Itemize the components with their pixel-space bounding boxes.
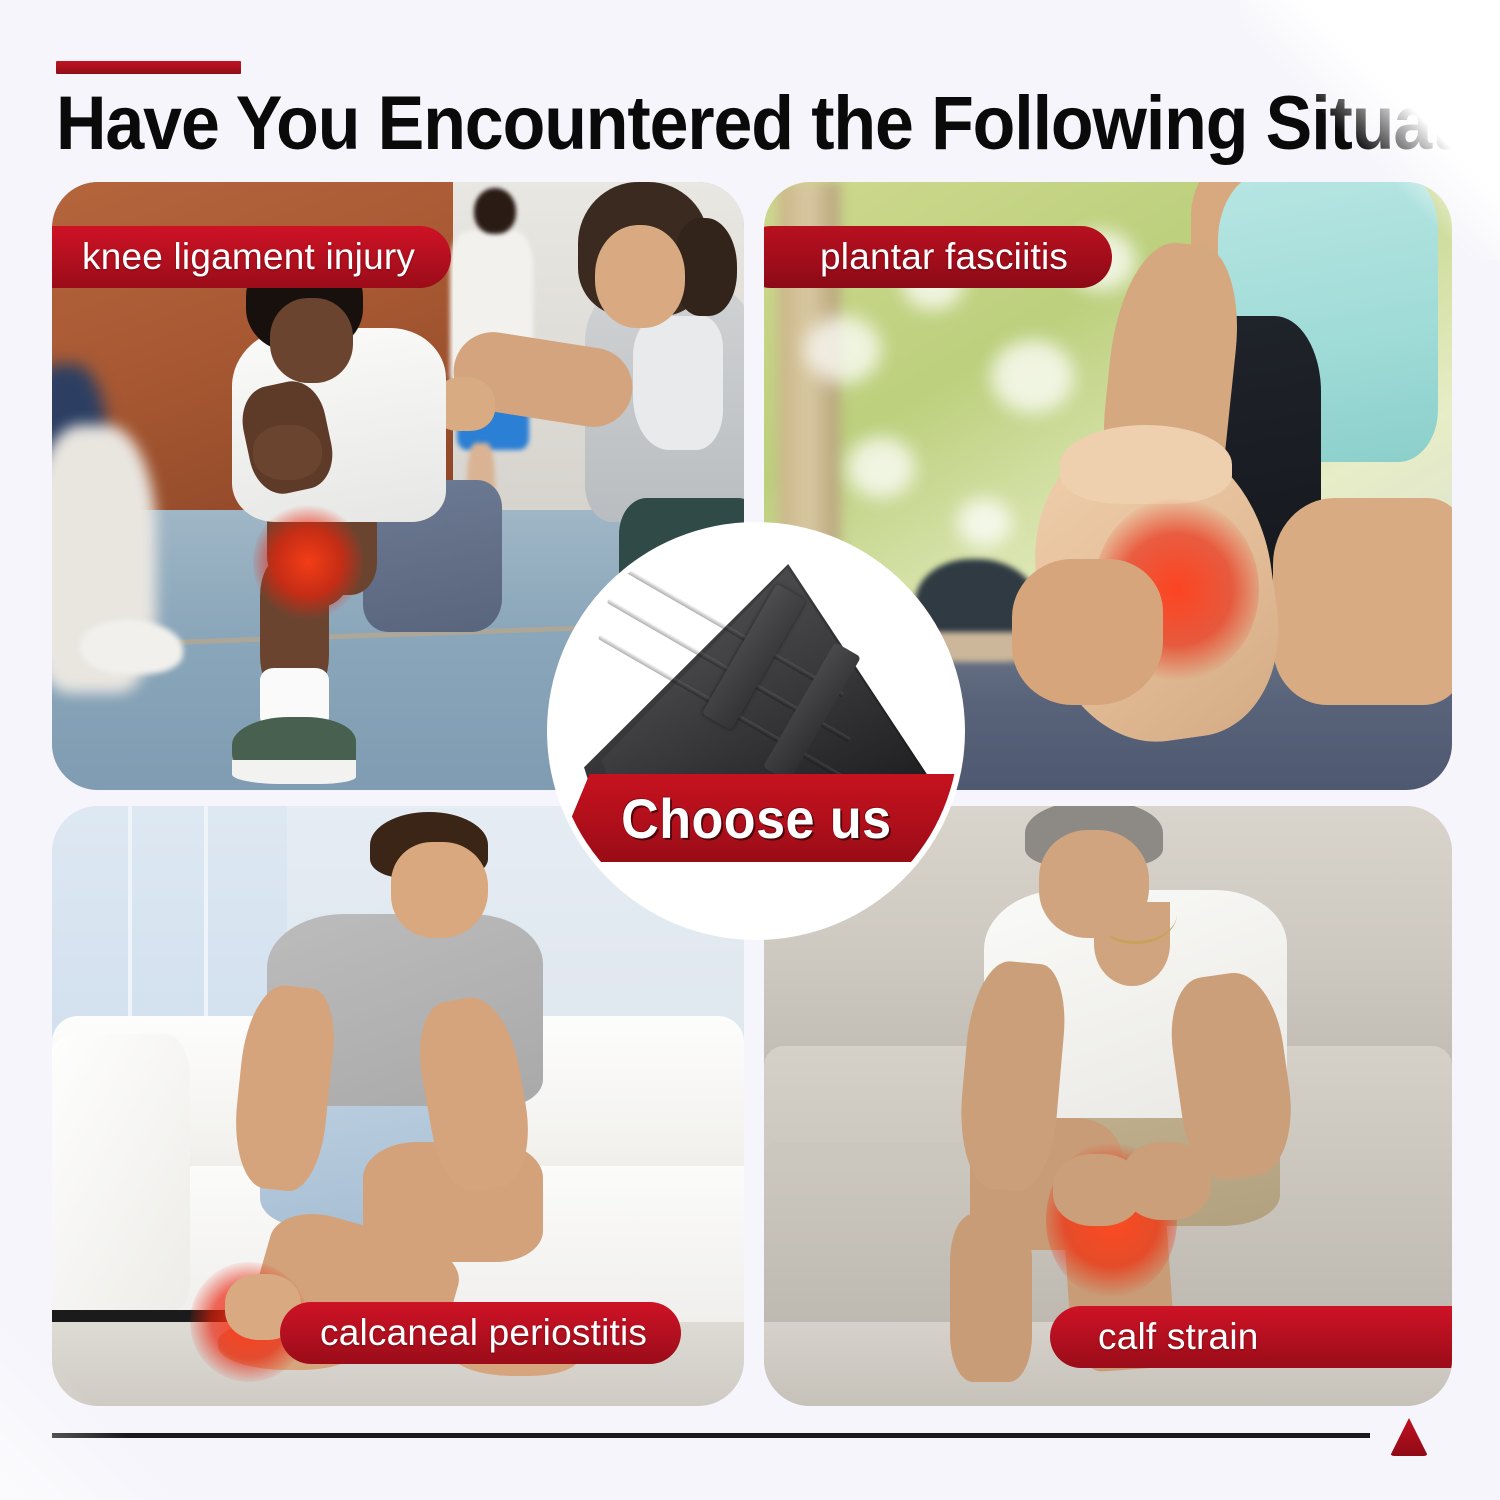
badge-calf-strain: calf strain (1050, 1306, 1452, 1368)
scene-bokeh-light (957, 498, 1012, 547)
choose-us-ribbon: Choose us (553, 774, 959, 862)
scene-coach-hoodie (633, 316, 723, 450)
scene-senior-face (1039, 830, 1149, 938)
scene-woman-thigh (1273, 498, 1452, 705)
header-accent-bar (56, 61, 241, 74)
scene-senior-shin-left (950, 1214, 1033, 1382)
scene-man-face (391, 842, 488, 938)
product-infographic-poster: Have You Encountered the Following Situa… (0, 0, 1500, 1500)
badge-label: calcaneal periostitis (320, 1312, 647, 1354)
scene-bokeh-light (991, 340, 1074, 413)
scene-bystander-head (474, 188, 516, 234)
badge-label: plantar fasciitis (820, 236, 1068, 278)
scene-toes (1060, 425, 1232, 504)
badge-label: calf strain (1098, 1316, 1259, 1358)
scene-senior-hand-upper (1122, 1142, 1211, 1220)
badge-label: knee ligament injury (82, 236, 415, 278)
product-callout-circle[interactable]: Choose us (553, 528, 959, 934)
scene-athlete-head (270, 298, 353, 383)
scene-bokeh-light (805, 316, 881, 383)
scene-sofa-arm (52, 1034, 190, 1310)
choose-us-label: Choose us (621, 786, 891, 851)
badge-knee-ligament-injury: knee ligament injury (52, 226, 451, 288)
scene-athlete-shoe-sole (232, 760, 357, 784)
pain-glow-knee-icon (253, 504, 364, 620)
scene-bokeh-light (847, 437, 916, 498)
badge-calcaneal-periostitis: calcaneal periostitis (280, 1302, 681, 1364)
corner-triangle-mark-icon (1390, 1418, 1428, 1456)
badge-plantar-fasciitis: plantar fasciitis (764, 226, 1112, 288)
scene-coach-face (595, 225, 685, 328)
scene-athlete-hand (253, 425, 322, 480)
footer-divider (52, 1433, 1370, 1438)
scene-hand-gripping-foot (1012, 559, 1163, 705)
page-title: Have You Encountered the Following Situa… (56, 86, 1344, 162)
